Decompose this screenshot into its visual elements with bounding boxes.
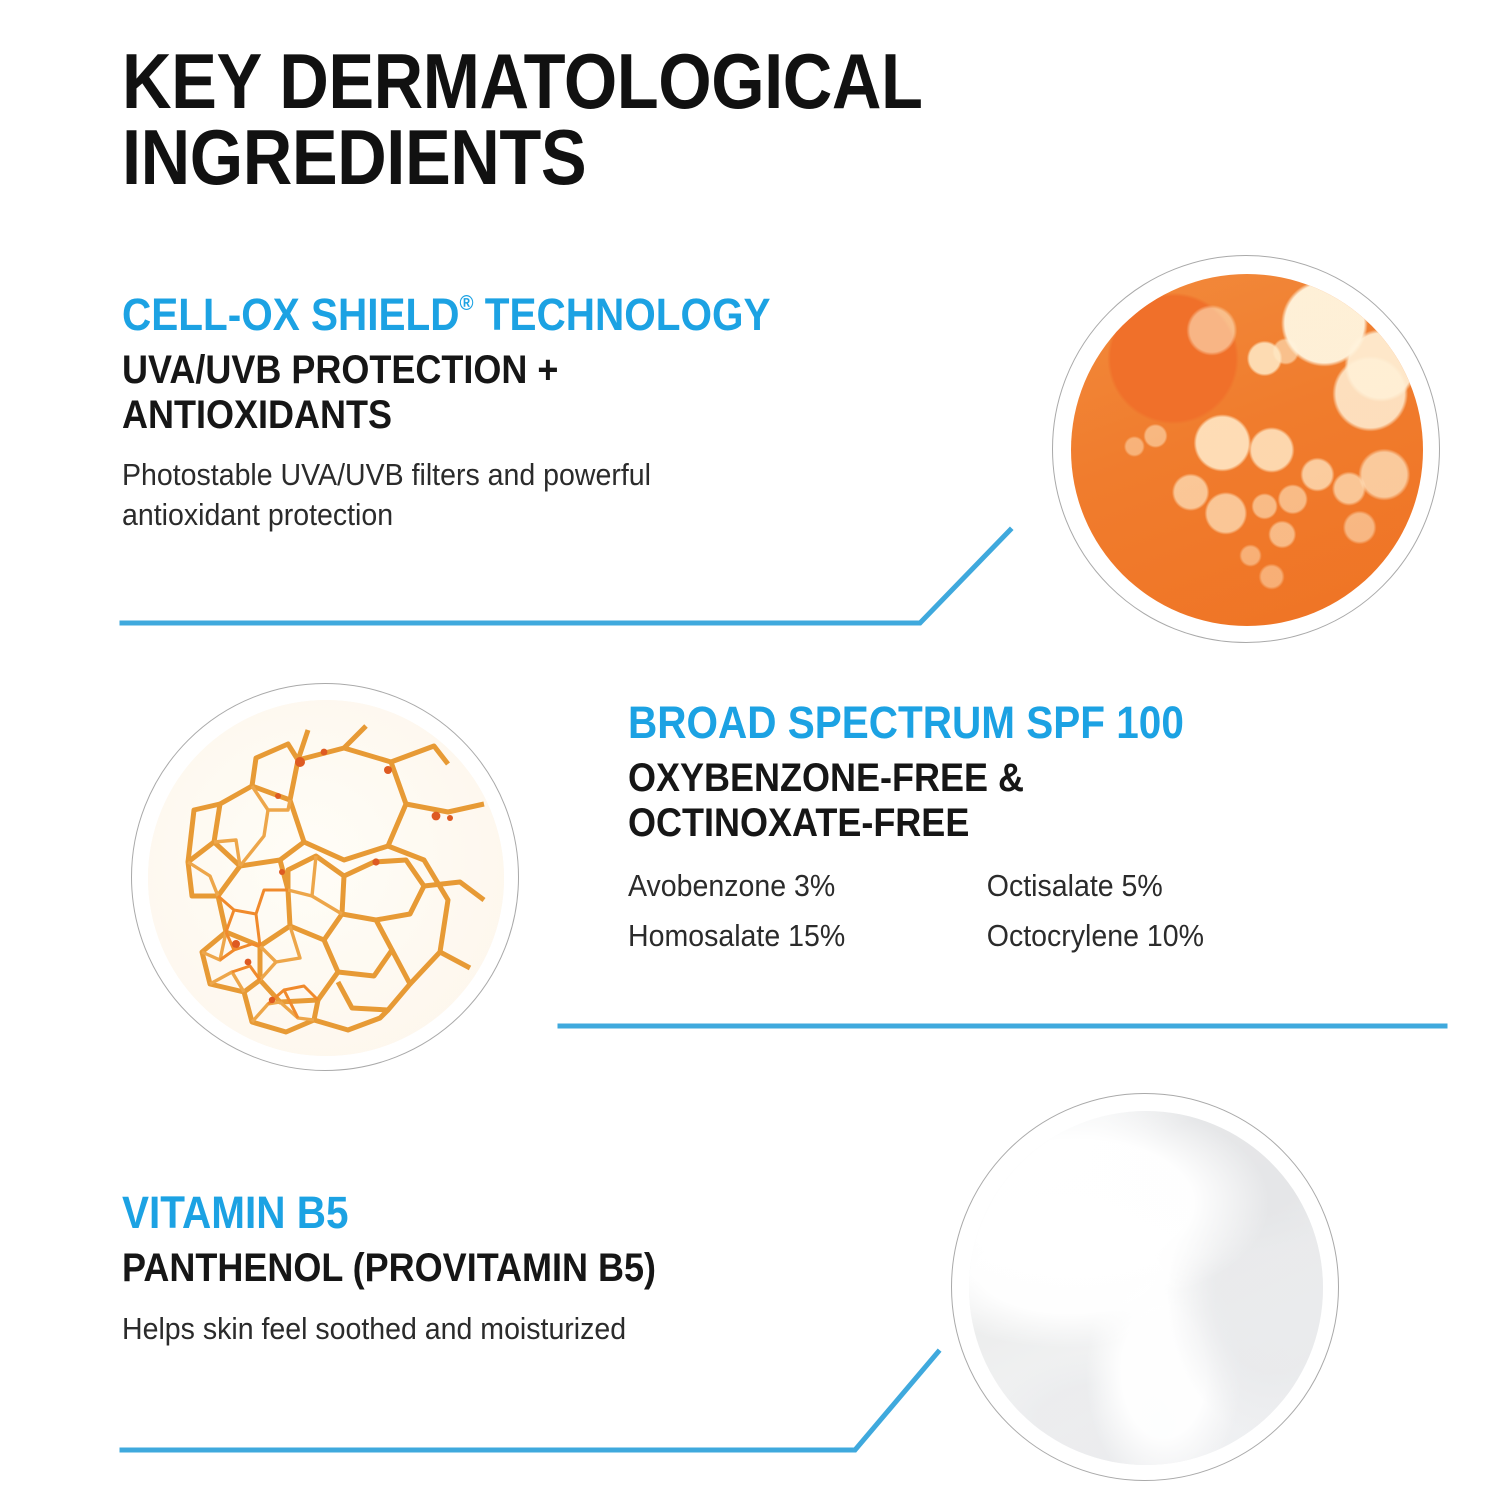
orange-emulsion-bubbles-photo — [1052, 255, 1440, 643]
block-subheading-cell-ox-shield: UVA/UVB PROTECTION + ANTIOXIDANTS — [122, 348, 968, 438]
block-vitamin-b5: VITAMIN B5 PANTHENOL (PROVITAMIN B5) Hel… — [122, 1190, 1022, 1348]
block-heading-broad-spectrum: BROAD SPECTRUM SPF 100 — [628, 700, 1402, 746]
page-title: KEY DERMATOLOGICAL INGREDIENTS — [122, 44, 1108, 195]
connector-line-broad-spectrum — [545, 1008, 1465, 1044]
block-heading-vitamin-b5: VITAMIN B5 — [122, 1190, 932, 1236]
block-body-vitamin-b5: Helps skin feel soothed and moisturized — [122, 1309, 950, 1349]
white-cream-texture-photo-inner — [969, 1111, 1323, 1465]
registered-trademark-icon: ® — [460, 292, 474, 315]
filter-item: Avobenzone 3% — [628, 867, 987, 905]
block-broad-spectrum: BROAD SPECTRUM SPF 100 OXYBENZONE-FREE &… — [628, 700, 1488, 955]
orange-emulsion-bubbles-photo-inner — [1071, 274, 1423, 626]
block-heading-suffix: TECHNOLOGY — [474, 289, 771, 340]
connector-line-vitamin-b5 — [110, 1330, 970, 1480]
block-body-cell-ox-shield: Photostable UVA/UVB filters and powerful… — [122, 455, 987, 534]
filter-item: Octocrylene 10% — [987, 917, 1419, 955]
filter-item: Octisalate 5% — [987, 867, 1419, 905]
white-cream-texture — [969, 1111, 1323, 1465]
cell-microscopy-texture — [148, 700, 504, 1056]
white-cream-texture-photo — [951, 1093, 1339, 1481]
infographic-canvas: KEY DERMATOLOGICAL INGREDIENTS CELL-OX S… — [0, 0, 1500, 1500]
block-subheading-broad-spectrum: OXYBENZONE-FREE & OCTINOXATE-FREE — [628, 756, 1402, 846]
cell-microscopy-photo — [131, 683, 519, 1071]
block-heading-text: CELL-OX SHIELD — [122, 289, 460, 340]
filter-item: Homosalate 15% — [628, 917, 987, 955]
block-heading-cell-ox-shield: CELL-OX SHIELD® TECHNOLOGY — [122, 292, 968, 338]
orange-emulsion-texture — [1071, 274, 1423, 626]
filter-ingredient-list: Avobenzone 3% Octisalate 5% Homosalate 1… — [628, 867, 1419, 955]
cell-microscopy-photo-inner — [148, 700, 504, 1056]
block-subheading-vitamin-b5: PANTHENOL (PROVITAMIN B5) — [122, 1246, 932, 1291]
block-cell-ox-shield: CELL-OX SHIELD® TECHNOLOGY UVA/UVB PROTE… — [122, 292, 1062, 535]
